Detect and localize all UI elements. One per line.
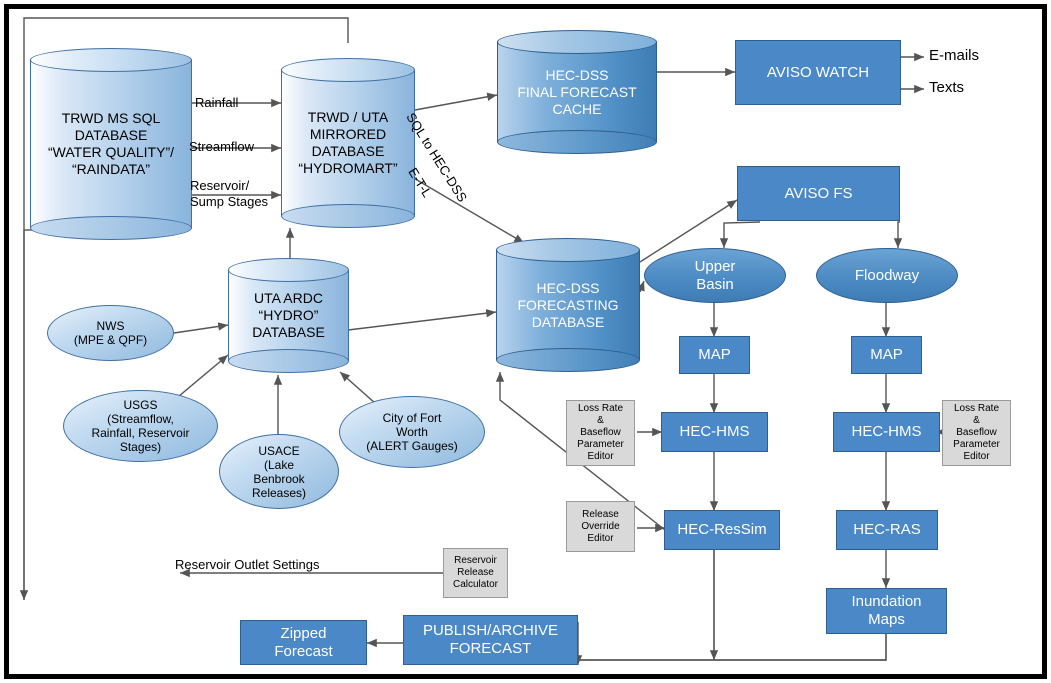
box-zipped-forecast-label: Zipped Forecast <box>274 625 332 661</box>
model-floodway[interactable]: Floodway <box>816 248 958 303</box>
box-map-left-label: MAP <box>698 346 731 364</box>
box-hec-hms-right[interactable]: HEC-HMS <box>833 412 940 452</box>
box-aviso-watch-label: AVISO WATCH <box>767 64 869 82</box>
box-zipped-forecast[interactable]: Zipped Forecast <box>240 620 367 665</box>
db-forecasting-label: HEC-DSS FORECASTING DATABASE <box>496 238 640 372</box>
gbox-reservoir-release-label: Reservoir Release Calculator <box>453 555 498 591</box>
output-label-texts: Texts <box>929 79 964 96</box>
box-aviso-watch[interactable]: AVISO WATCH <box>735 40 901 105</box>
model-upper-basin-label: Upper Basin <box>695 258 736 294</box>
box-hec-ressim[interactable]: HEC-ResSim <box>664 510 780 550</box>
gbox-reservoir-release-calculator[interactable]: Reservoir Release Calculator <box>443 548 508 598</box>
gbox-loss-rate-right-label: Loss Rate & Baseflow Parameter Editor <box>953 403 1000 463</box>
source-usace-label: USACE (Lake Benbrook Releases) <box>252 444 306 500</box>
box-hec-ras[interactable]: HEC-RAS <box>836 510 938 550</box>
gbox-loss-rate-baseflow-right[interactable]: Loss Rate & Baseflow Parameter Editor <box>942 400 1011 466</box>
source-nws[interactable]: NWS (MPE & QPF) <box>47 305 174 361</box>
source-city-of-fort-worth[interactable]: City of Fort Worth (ALERT Gauges) <box>339 396 485 468</box>
edge-label-reservoir-outlet-settings: Reservoir Outlet Settings <box>175 557 320 572</box>
model-floodway-label: Floodway <box>855 267 919 285</box>
box-map-left[interactable]: MAP <box>679 336 750 374</box>
box-inundation-maps[interactable]: Inundation Maps <box>826 588 947 634</box>
db-hec-dss-forecasting-database[interactable]: HEC-DSS FORECASTING DATABASE <box>496 238 640 372</box>
box-aviso-fs[interactable]: AVISO FS <box>737 166 900 221</box>
box-map-right[interactable]: MAP <box>851 336 922 374</box>
box-publish-archive-forecast[interactable]: PUBLISH/ARCHIVE FORECAST <box>403 615 578 665</box>
gbox-loss-rate-left-label: Loss Rate & Baseflow Parameter Editor <box>577 403 624 463</box>
source-usgs-label: USGS (Streamflow, Rainfall, Reservoir St… <box>91 398 189 454</box>
model-upper-basin[interactable]: Upper Basin <box>644 248 786 303</box>
edge-label-rainfall: Rainfall <box>195 95 238 110</box>
box-hec-hms-left-label: HEC-HMS <box>680 423 750 441</box>
db-hydromart[interactable]: TRWD / UTA MIRRORED DATABASE “HYDROMART” <box>281 58 415 228</box>
box-hec-ras-label: HEC-RAS <box>853 521 921 539</box>
edge-label-streamflow: Streamflow <box>189 139 254 154</box>
db-trwd-ms-sql-label: TRWD MS SQL DATABASE “WATER QUALITY”/ “R… <box>30 48 192 240</box>
source-fort-worth-label: City of Fort Worth (ALERT Gauges) <box>366 411 458 453</box>
box-map-right-label: MAP <box>870 346 903 364</box>
gbox-release-override-editor[interactable]: Release Override Editor <box>566 501 635 552</box>
edge-label-reservoir-sump-stages: Reservoir/ Sump Stages <box>190 178 268 210</box>
box-aviso-fs-label: AVISO FS <box>784 185 852 203</box>
box-hec-hms-right-label: HEC-HMS <box>852 423 922 441</box>
diagram-canvas: TRWD MS SQL DATABASE “WATER QUALITY”/ “R… <box>0 0 1051 683</box>
db-uta-ardc-hydro-label: UTA ARDC “HYDRO” DATABASE <box>228 258 349 373</box>
db-uta-ardc-hydro[interactable]: UTA ARDC “HYDRO” DATABASE <box>228 258 349 373</box>
output-label-emails: E-mails <box>929 47 979 64</box>
db-hydromart-label: TRWD / UTA MIRRORED DATABASE “HYDROMART” <box>281 58 415 228</box>
box-hec-ressim-label: HEC-ResSim <box>677 521 766 539</box>
source-nws-label: NWS (MPE & QPF) <box>74 319 147 347</box>
db-hec-dss-final-forecast-cache[interactable]: HEC-DSS FINAL FORECAST CACHE <box>497 30 657 154</box>
gbox-release-override-label: Release Override Editor <box>581 509 619 545</box>
box-publish-label: PUBLISH/ARCHIVE FORECAST <box>423 622 558 658</box>
db-trwd-ms-sql[interactable]: TRWD MS SQL DATABASE “WATER QUALITY”/ “R… <box>30 48 192 240</box>
source-usgs[interactable]: USGS (Streamflow, Rainfall, Reservoir St… <box>63 390 218 462</box>
source-usace[interactable]: USACE (Lake Benbrook Releases) <box>219 434 339 509</box>
gbox-loss-rate-baseflow-left[interactable]: Loss Rate & Baseflow Parameter Editor <box>566 400 635 466</box>
box-hec-hms-left[interactable]: HEC-HMS <box>661 412 768 452</box>
db-final-cache-label: HEC-DSS FINAL FORECAST CACHE <box>497 30 657 154</box>
box-inundation-maps-label: Inundation Maps <box>851 593 921 629</box>
